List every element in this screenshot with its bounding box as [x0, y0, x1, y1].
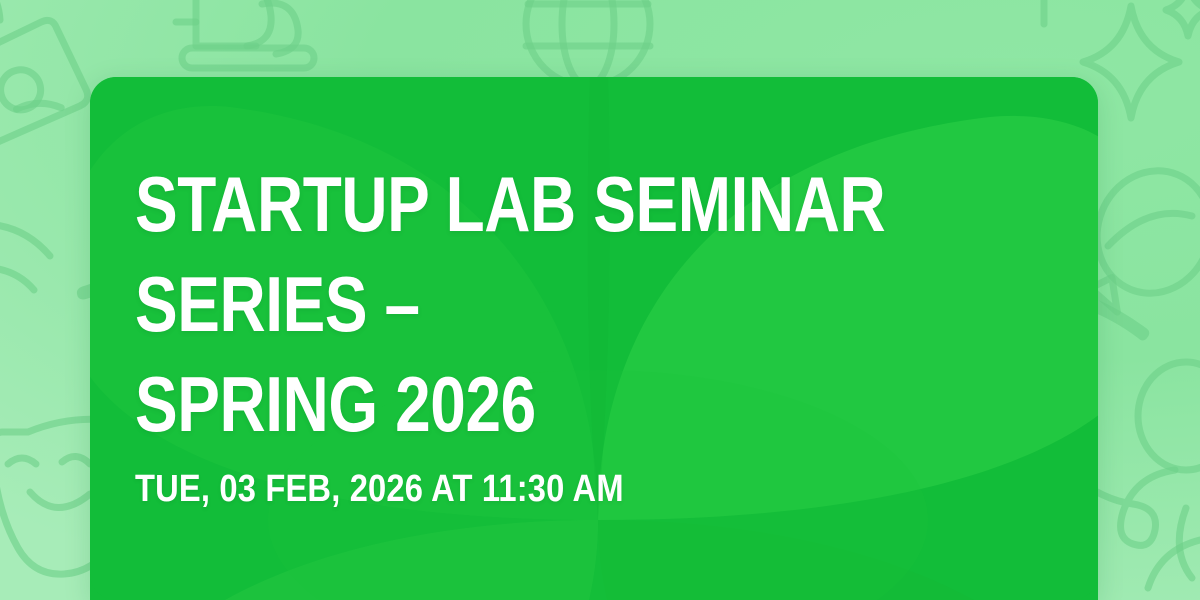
- event-card: Startup Lab Seminar Series – Spring 2026…: [90, 77, 1098, 600]
- sparkle-icon: [1166, 0, 1200, 36]
- globe-icon: [526, 0, 650, 86]
- microscope-icon: [176, 0, 314, 68]
- event-banner-stage: Startup Lab Seminar Series – Spring 2026…: [0, 0, 1200, 600]
- card-content: Startup Lab Seminar Series – Spring 2026…: [135, 77, 1058, 600]
- banknote-icon: [0, 15, 94, 157]
- event-datetime: Tue, 03 Feb, 2026 at 11:30 AM: [135, 470, 624, 508]
- event-title: Startup Lab Seminar Series – Spring 2026: [135, 155, 892, 454]
- party-popper-icon: [0, 224, 50, 290]
- flag-icon: [1044, 0, 1106, 24]
